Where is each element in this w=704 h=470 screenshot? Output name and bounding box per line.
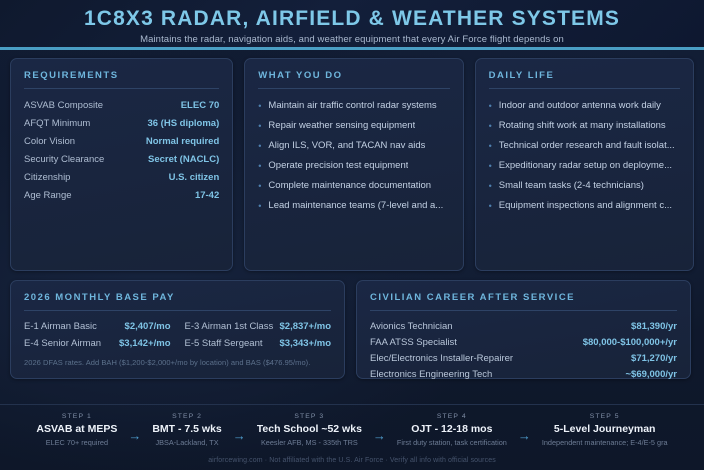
bullet-icon: • — [489, 200, 492, 212]
requirement-label: ASVAB Composite — [24, 100, 103, 111]
list-item: • Operate precision test equipment — [258, 156, 449, 176]
list-item-label: Expeditionary radar setup on deployme... — [499, 160, 672, 171]
list-item: • Lead maintenance teams (7-level and a.… — [258, 196, 449, 216]
bullet-icon: • — [258, 140, 261, 152]
page-header: 1C8X3 RADAR, AIRFIELD & WEATHER SYSTEMS … — [0, 0, 704, 50]
list-item-label: Indoor and outdoor antenna work daily — [499, 100, 661, 111]
step-description: Keesler AFB, MS - 335th TRS — [257, 438, 362, 447]
page-title: 1C8X3 RADAR, AIRFIELD & WEATHER SYSTEMS — [0, 7, 704, 31]
step-4: STEP 4 OJT - 12-18 mos First duty statio… — [397, 413, 507, 447]
civilian-career-card: CIVILIAN CAREER AFTER SERVICE Avionics T… — [356, 280, 691, 379]
requirement-row: Color Vision Normal required — [24, 132, 219, 150]
bullet-icon: • — [489, 160, 492, 172]
pay-amount: $3,343+/mo — [280, 338, 332, 349]
requirement-value: 36 (HS diploma) — [147, 118, 219, 129]
requirement-label: Citizenship — [24, 172, 70, 183]
monthly-base-pay-card: 2026 MONTHLY BASE PAY E-1 Airman Basic $… — [10, 280, 345, 379]
pay-row: E-5 Staff Sergeant $3,343+/mo — [185, 335, 332, 352]
requirement-value: ELEC 70 — [181, 100, 220, 111]
pay-rank-label: E-4 Senior Airman — [24, 338, 101, 349]
list-item-label: Lead maintenance teams (7-level and a... — [268, 200, 443, 211]
list-item: • Equipment inspections and alignment c.… — [489, 196, 680, 216]
step-5: STEP 5 5-Level Journeyman Independent ma… — [542, 413, 668, 447]
list-item: • Rotating shift work at many installati… — [489, 116, 680, 136]
pay-row: E-1 Airman Basic $2,407/mo — [24, 318, 171, 335]
step-kicker: STEP 3 — [257, 413, 362, 420]
requirement-row: Citizenship U.S. citizen — [24, 168, 219, 186]
requirement-row: AFQT Minimum 36 (HS diploma) — [24, 114, 219, 132]
civilian-job-list: Avionics Technician $81,390/yr FAA ATSS … — [370, 318, 677, 383]
page-subtitle: Maintains the radar, navigation aids, an… — [0, 34, 704, 45]
bullet-icon: • — [489, 100, 492, 112]
step-title: BMT - 7.5 wks — [152, 423, 221, 435]
top-card-row: REQUIREMENTS ASVAB Composite ELEC 70 AFQ… — [10, 58, 694, 271]
pay-amount: $2,837+/mo — [280, 321, 332, 332]
content-area: REQUIREMENTS ASVAB Composite ELEC 70 AFQ… — [0, 50, 704, 379]
arrow-right-icon: → — [362, 413, 397, 442]
list-item: • Maintain air traffic control radar sys… — [258, 96, 449, 116]
requirement-row: ASVAB Composite ELEC 70 — [24, 96, 219, 114]
step-description: Independent maintenance; E-4/E-5 gra — [542, 438, 668, 447]
what-you-do-card-title: WHAT YOU DO — [258, 70, 449, 89]
requirement-value: 17-42 — [195, 190, 219, 201]
requirements-list: ASVAB Composite ELEC 70 AFQT Minimum 36 … — [24, 96, 219, 204]
requirements-card-title: REQUIREMENTS — [24, 70, 219, 89]
step-kicker: STEP 5 — [542, 413, 668, 420]
list-item-label: Small team tasks (2-4 technicians) — [499, 180, 644, 191]
daily-life-card: DAILY LIFE • Indoor and outdoor antenna … — [475, 58, 694, 271]
arrow-right-icon: → — [222, 413, 257, 442]
civilian-job-row: FAA ATSS Specialist $80,000-$100,000+/yr — [370, 334, 677, 350]
list-item: • Indoor and outdoor antenna work daily — [489, 96, 680, 116]
list-item-label: Operate precision test equipment — [268, 160, 408, 171]
list-item-label: Technical order research and fault isola… — [499, 140, 675, 151]
step-title: ASVAB at MEPS — [36, 423, 117, 435]
requirement-label: AFQT Minimum — [24, 118, 90, 129]
bullet-icon: • — [258, 200, 261, 212]
what-you-do-list: • Maintain air traffic control radar sys… — [258, 96, 449, 216]
civilian-job-row: Elec/Electronics Installer-Repairer $71,… — [370, 350, 677, 366]
step-title: Tech School ~52 wks — [257, 423, 362, 435]
pay-row: E-3 Airman 1st Class $2,837+/mo — [185, 318, 332, 335]
step-title: 5-Level Journeyman — [542, 423, 668, 435]
step-title: OJT - 12-18 mos — [397, 423, 507, 435]
civilian-job-pay: $81,390/yr — [631, 321, 677, 332]
daily-life-card-title: DAILY LIFE — [489, 70, 680, 89]
list-item: • Small team tasks (2-4 technicians) — [489, 176, 680, 196]
civilian-job-pay: $71,270/yr — [631, 353, 677, 364]
bullet-icon: • — [489, 140, 492, 152]
civilian-job-title: Avionics Technician — [370, 321, 453, 332]
pay-card-title: 2026 MONTHLY BASE PAY — [24, 292, 331, 311]
step-2: STEP 2 BMT - 7.5 wks JBSA-Lackland, TX — [152, 413, 221, 447]
list-item: • Technical order research and fault iso… — [489, 136, 680, 156]
infographic-page: 1C8X3 RADAR, AIRFIELD & WEATHER SYSTEMS … — [0, 0, 704, 470]
bullet-icon: • — [258, 100, 261, 112]
step-kicker: STEP 2 — [152, 413, 221, 420]
civilian-job-row: Electronics Engineering Tech ~$69,000/yr — [370, 367, 677, 383]
civilian-card-title: CIVILIAN CAREER AFTER SERVICE — [370, 292, 677, 311]
step-1: STEP 1 ASVAB at MEPS ELEC 70+ required — [36, 413, 117, 447]
requirement-value: Normal required — [146, 136, 219, 147]
pay-row: E-4 Senior Airman $3,142+/mo — [24, 335, 171, 352]
list-item-label: Align ILS, VOR, and TACAN nav aids — [268, 140, 425, 151]
step-3: STEP 3 Tech School ~52 wks Keesler AFB, … — [257, 413, 362, 447]
career-path-timeline: STEP 1 ASVAB at MEPS ELEC 70+ required →… — [0, 404, 704, 447]
list-item-label: Rotating shift work at many installation… — [499, 120, 666, 131]
step-kicker: STEP 1 — [36, 413, 117, 420]
list-item-label: Repair weather sensing equipment — [268, 120, 415, 131]
requirement-label: Color Vision — [24, 136, 75, 147]
civilian-job-pay: $80,000-$100,000+/yr — [583, 337, 677, 348]
pay-rank-label: E-5 Staff Sergeant — [185, 338, 263, 349]
civilian-job-title: Elec/Electronics Installer-Repairer — [370, 353, 513, 364]
daily-life-list: • Indoor and outdoor antenna work daily … — [489, 96, 680, 216]
pay-amount: $3,142+/mo — [119, 338, 171, 349]
header-accent-bar — [0, 47, 704, 50]
bullet-icon: • — [258, 160, 261, 172]
bullet-icon: • — [489, 120, 492, 132]
arrow-right-icon: → — [507, 413, 542, 442]
footer-disclaimer: airforcewing.com · Not affiliated with t… — [0, 457, 704, 464]
civilian-job-title: FAA ATSS Specialist — [370, 337, 457, 348]
requirement-value: U.S. citizen — [169, 172, 220, 183]
requirement-row: Security Clearance Secret (NACLC) — [24, 150, 219, 168]
requirement-value: Secret (NACLC) — [148, 154, 219, 165]
civilian-job-row: Avionics Technician $81,390/yr — [370, 318, 677, 334]
steps-row: STEP 1 ASVAB at MEPS ELEC 70+ required →… — [0, 413, 704, 447]
list-item: • Complete maintenance documentation — [258, 176, 449, 196]
what-you-do-card: WHAT YOU DO • Maintain air traffic contr… — [244, 58, 463, 271]
bullet-icon: • — [258, 180, 261, 192]
step-description: JBSA-Lackland, TX — [152, 438, 221, 447]
pay-rank-label: E-1 Airman Basic — [24, 321, 97, 332]
pay-rank-label: E-3 Airman 1st Class — [185, 321, 274, 332]
requirement-label: Age Range — [24, 190, 72, 201]
pay-grid: E-1 Airman Basic $2,407/mo E-3 Airman 1s… — [24, 318, 331, 352]
requirement-label: Security Clearance — [24, 154, 104, 165]
pay-amount: $2,407/mo — [125, 321, 171, 332]
civilian-job-title: Electronics Engineering Tech — [370, 369, 492, 380]
list-item-label: Maintain air traffic control radar syste… — [268, 100, 436, 111]
step-description: First duty station, task certification — [397, 438, 507, 447]
bullet-icon: • — [489, 180, 492, 192]
list-item: • Align ILS, VOR, and TACAN nav aids — [258, 136, 449, 156]
bullet-icon: • — [258, 120, 261, 132]
requirement-row: Age Range 17-42 — [24, 186, 219, 204]
bottom-card-row: 2026 MONTHLY BASE PAY E-1 Airman Basic $… — [10, 280, 694, 379]
step-description: ELEC 70+ required — [36, 438, 117, 447]
arrow-right-icon: → — [117, 413, 152, 442]
list-item: • Repair weather sensing equipment — [258, 116, 449, 136]
list-item-label: Equipment inspections and alignment c... — [499, 200, 672, 211]
step-kicker: STEP 4 — [397, 413, 507, 420]
civilian-job-pay: ~$69,000/yr — [625, 369, 677, 380]
list-item: • Expeditionary radar setup on deployme.… — [489, 156, 680, 176]
list-item-label: Complete maintenance documentation — [268, 180, 431, 191]
pay-disclaimer: 2026 DFAS rates. Add BAH ($1,200-$2,000+… — [24, 358, 331, 367]
requirements-card: REQUIREMENTS ASVAB Composite ELEC 70 AFQ… — [10, 58, 233, 271]
